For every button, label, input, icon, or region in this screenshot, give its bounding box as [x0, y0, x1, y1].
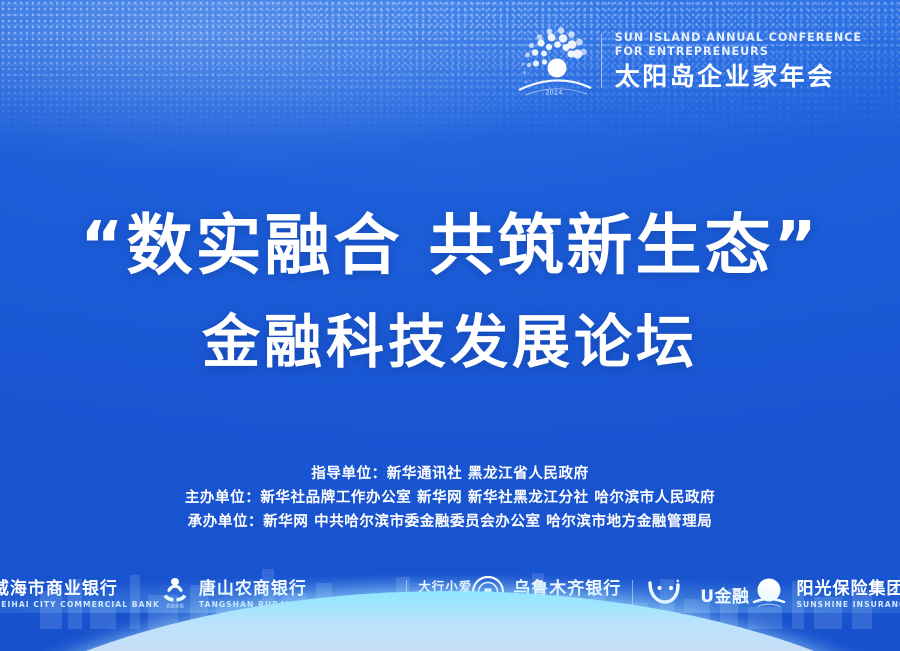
organizer-line-guidance: 指导单位：新华通讯社 黑龙江省人民政府 — [0, 462, 900, 486]
sponsor-name-en: SUNSHINE INSURANCE GROUP — [797, 599, 900, 610]
urumqi-subbrand-divider — [632, 580, 633, 608]
conference-logo: 2024 SUN ISLAND ANNUAL CONFERENCE FOR EN… — [511, 22, 862, 100]
sponsor-weihai: 威海市商业银行 WEIHAI CITY COMMERCIAL BANK — [0, 572, 160, 616]
headline-block: “数实融合 共筑新生态” 金融科技发展论坛 — [0, 205, 900, 381]
sponsor-urumqi: 乌鲁木齐银行 BANK OF URUMQI U金融 — [472, 572, 749, 616]
sponsor-tangshan: 农信永恒 唐山农商银行 TANGSHAN RURAL COMMERCIAL BA… — [160, 572, 472, 616]
weihai-text: 威海市商业银行 WEIHAI CITY COMMERCIAL BANK — [0, 579, 160, 610]
tangshan-slogan: 大行小爱 百姓银行 — [418, 579, 472, 609]
page-subtitle: 金融科技发展论坛 — [0, 303, 900, 381]
sponsor-name-en: TANGSHAN RURAL COMMERCIAL BANK — [199, 599, 395, 610]
conference-logo-year: 2024 — [545, 90, 562, 97]
tangshan-text: 唐山农商银行 TANGSHAN RURAL COMMERCIAL BANK — [199, 579, 395, 610]
sunshine-text: 阳光保险集团 SUNSHINE INSURANCE GROUP — [797, 579, 900, 610]
sponsor-name-cn: 唐山农商银行 — [199, 579, 395, 599]
conference-logo-divider — [601, 34, 602, 88]
sponsor-strip: 威海市商业银行 WEIHAI CITY COMMERCIAL BANK 农信永恒… — [0, 571, 900, 617]
smile-u-icon — [644, 578, 684, 610]
organizer-line-host: 主办单位：新华社品牌工作办公室 新华网 新华社黑龙江分社 哈尔滨市人民政府 — [0, 486, 900, 510]
organizer-line-undertaker: 承办单位：新华网 中共哈尔滨市委金融委员会办公室 哈尔滨市地方金融管理局 — [0, 510, 900, 534]
conference-chinese-name: 太阳岛企业家年会 — [615, 61, 862, 92]
tangshan-bank-logo-icon: 农信永恒 — [160, 575, 190, 613]
poster-canvas: 2024 SUN ISLAND ANNUAL CONFERENCE FOR EN… — [0, 0, 900, 651]
urumqi-subbrand-name: U金融 — [700, 582, 749, 607]
conference-english-line1: SUN ISLAND ANNUAL CONFERENCE — [615, 31, 862, 45]
tangshan-slogan-line2: 百姓银行 — [418, 594, 472, 609]
sunshine-insurance-logo-icon — [750, 575, 788, 613]
sponsor-name-en: BANK OF URUMQI — [513, 599, 621, 610]
sponsor-name-cn: 阳光保险集团 — [797, 579, 900, 599]
tangshan-slogan-line1: 大行小爱 — [418, 579, 472, 594]
tangshan-badge-text: 农信永恒 — [166, 603, 184, 610]
sponsor-name-cn: 威海市商业银行 — [0, 579, 160, 599]
sponsor-name-en: WEIHAI CITY COMMERCIAL BANK — [0, 599, 160, 610]
tangshan-slogan-divider — [406, 580, 407, 608]
sponsor-name-cn: 乌鲁木齐银行 — [513, 579, 621, 599]
conference-logo-texts: SUN ISLAND ANNUAL CONFERENCE FOR ENTREPR… — [615, 31, 862, 92]
conference-english-line2: FOR ENTREPRENEURS — [615, 45, 862, 59]
sponsor-sunshine: 阳光保险集团 SUNSHINE INSURANCE GROUP — [750, 572, 900, 616]
urumqi-bank-logo-icon — [472, 576, 504, 612]
sun-island-dots-logo-icon: 2024 — [511, 22, 597, 100]
page-title: “数实融合 共筑新生态” — [0, 205, 900, 287]
organizer-block: 指导单位：新华通讯社 黑龙江省人民政府 主办单位：新华社品牌工作办公室 新华网 … — [0, 462, 900, 534]
urumqi-text: 乌鲁木齐银行 BANK OF URUMQI — [513, 579, 621, 610]
